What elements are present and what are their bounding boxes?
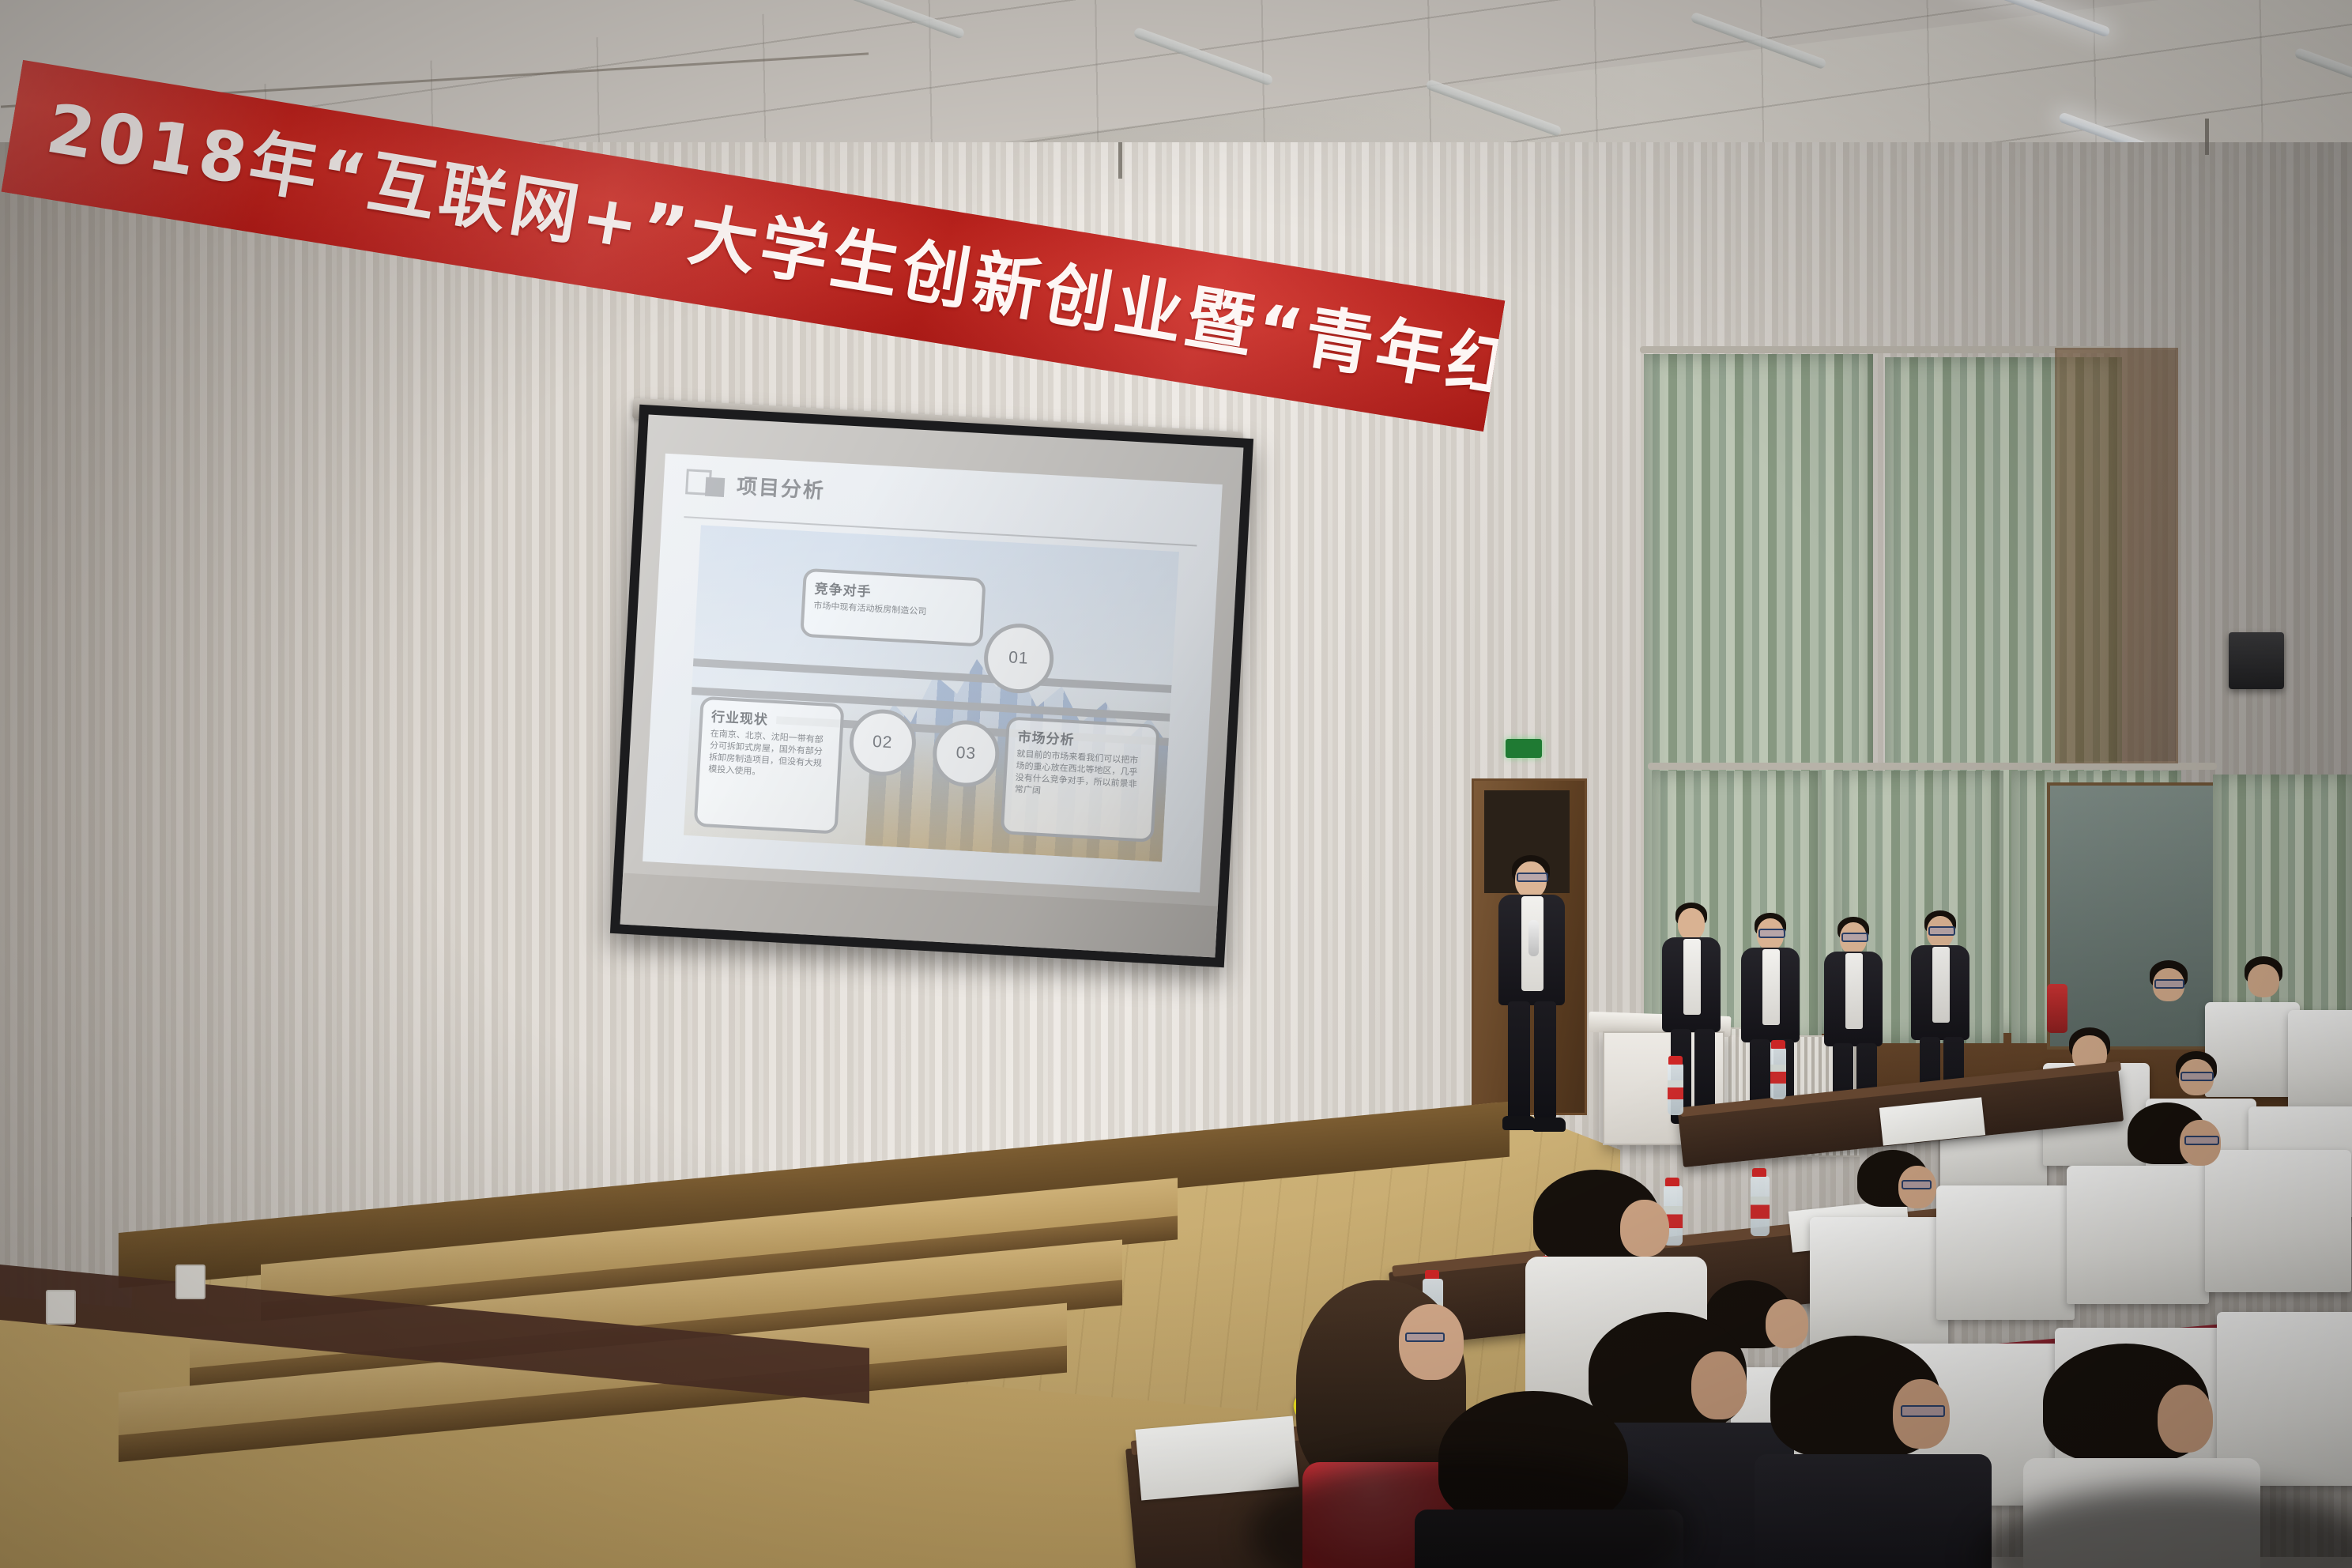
wall-outlet — [175, 1265, 205, 1299]
presenter-shoe — [1502, 1116, 1536, 1130]
presenter-legs — [1508, 1001, 1530, 1120]
curtain-rod — [1640, 346, 2114, 353]
audience-hair — [1438, 1391, 1628, 1525]
water-bottle[interactable] — [1751, 1176, 1770, 1236]
microphone[interactable] — [1528, 920, 1539, 956]
side-door[interactable] — [2055, 348, 2178, 763]
seat-cover — [1936, 1185, 2075, 1320]
screen-glare — [620, 414, 1244, 957]
bottle-label — [1770, 1065, 1786, 1084]
audience-jacket — [1755, 1454, 1992, 1568]
audience-member — [2134, 960, 2205, 1063]
bottle-label — [1668, 1080, 1683, 1099]
audience-head — [2158, 1385, 2213, 1453]
audience-glasses — [2184, 1136, 2219, 1145]
curtain-rod — [1648, 763, 2217, 770]
member-head — [1678, 908, 1705, 940]
member-glasses — [1928, 926, 1955, 936]
member-shirt — [1932, 947, 1950, 1023]
audience-shirt — [2023, 1458, 2260, 1568]
audience-head — [1691, 1351, 1747, 1419]
audience-member — [2023, 1344, 2260, 1568]
bottle-cap — [1752, 1168, 1766, 1177]
presenter-shoe — [1532, 1118, 1566, 1132]
audience-member — [2118, 1102, 2237, 1253]
judge-head — [1399, 1304, 1464, 1380]
bottle-cap — [1668, 1056, 1683, 1065]
member-shirt — [1762, 949, 1780, 1025]
auditorium-scene: 2018年“互联网+”大学生创新创业暨“青年红色筑梦之旅”大赛复赛 项目分析 — [0, 0, 2352, 1568]
audience-member — [1849, 1150, 1952, 1284]
wall-speaker — [2229, 632, 2284, 689]
water-bottle[interactable] — [1668, 1063, 1683, 1115]
projector-screen: 项目分析 竞争对手 市场中现有活动板房制造公司 01 — [610, 405, 1253, 967]
audience-glasses — [2154, 979, 2184, 989]
audience-member — [1755, 1336, 1992, 1568]
banner-hook — [2205, 119, 2209, 155]
member-glasses — [1758, 929, 1785, 938]
bottle-cap — [1771, 1040, 1785, 1049]
audience-glasses — [2180, 1072, 2214, 1081]
banner-hook — [1118, 142, 1122, 179]
audience-glasses — [1902, 1180, 1932, 1189]
judge-glasses — [1405, 1332, 1445, 1342]
member-shirt — [1845, 953, 1863, 1029]
audience-glasses — [1901, 1405, 1945, 1417]
audience-member — [1415, 1391, 1683, 1568]
bottle-cap — [1425, 1270, 1439, 1279]
member-shirt — [1683, 939, 1701, 1015]
audience-jacket — [1415, 1510, 1683, 1568]
fire-extinguisher — [2047, 984, 2067, 1033]
member-glasses — [1841, 933, 1868, 942]
bottle-label — [1751, 1197, 1770, 1219]
team-member — [1652, 903, 1731, 1132]
audience-head — [2248, 964, 2279, 997]
presenter — [1482, 855, 1585, 1151]
presenter-glasses — [1517, 873, 1548, 882]
water-bottle[interactable] — [1770, 1047, 1786, 1099]
judge-paper[interactable] — [1135, 1415, 1298, 1500]
exit-sign — [1506, 739, 1542, 758]
presenter-legs — [1534, 1001, 1556, 1120]
audience-head — [1620, 1200, 1669, 1257]
wall-outlet — [46, 1290, 76, 1325]
audience-member — [2229, 956, 2300, 1059]
